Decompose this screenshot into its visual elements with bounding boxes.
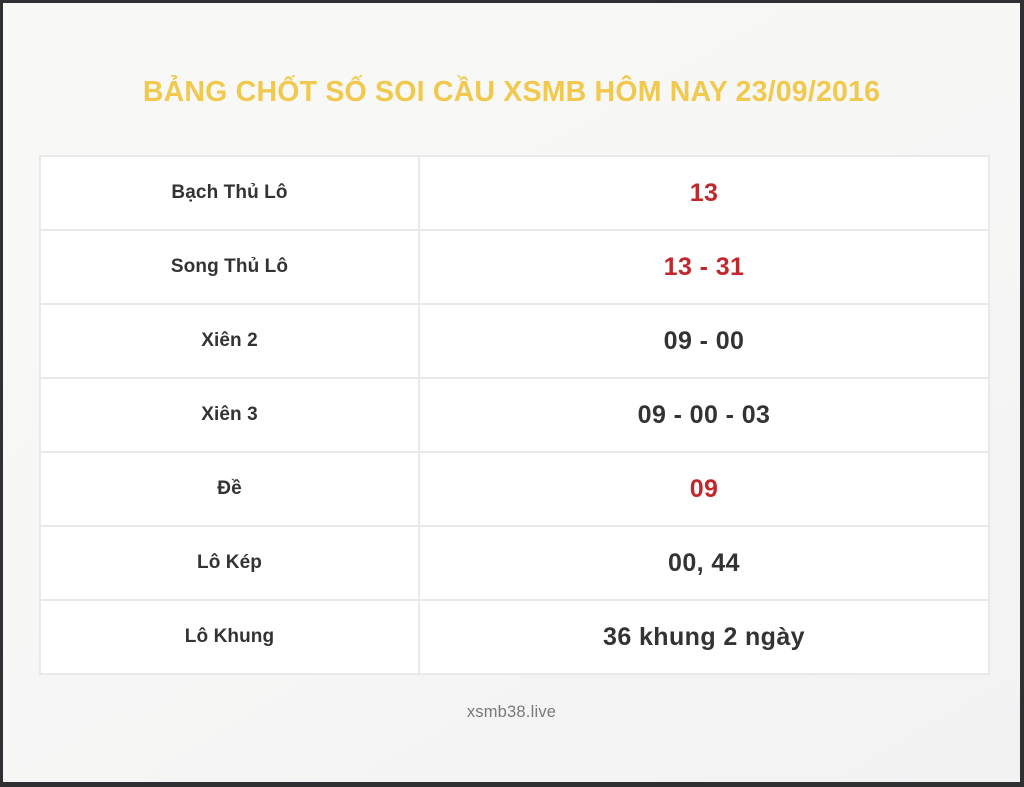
row-value-cell: 09 - 00 <box>419 304 989 378</box>
soi-cau-result-table: Bạch Thủ Lô13Song Thủ Lô13 - 31Xiên 209 … <box>39 155 990 675</box>
row-label-cell: Song Thủ Lô <box>40 230 419 304</box>
row-value: 09 - 00 <box>664 327 745 355</box>
row-label-cell: Đề <box>40 452 419 526</box>
row-label: Xiên 2 <box>201 330 258 351</box>
row-label: Đề <box>217 478 242 499</box>
row-label-cell: Lô Kép <box>40 526 419 600</box>
table-row: Xiên 309 - 00 - 03 <box>40 378 989 452</box>
row-value: 09 - 00 - 03 <box>638 401 771 429</box>
row-label-cell: Lô Khung <box>40 600 419 674</box>
footer-area: xsmb38.live <box>3 703 1020 722</box>
row-label: Bạch Thủ Lô <box>171 182 287 203</box>
row-value-cell: 09 <box>419 452 989 526</box>
site-credit-label: xsmb38.live <box>467 703 556 721</box>
table-row: Lô Khung36 khung 2 ngày <box>40 600 989 674</box>
row-value: 00, 44 <box>668 549 740 577</box>
poster-frame: BẢNG CHỐT SỐ SOI CẦU XSMB HÔM NAY 23/09/… <box>0 0 1024 787</box>
row-value: 13 <box>690 179 719 207</box>
row-label-cell: Bạch Thủ Lô <box>40 156 419 230</box>
row-label: Lô Khung <box>185 626 274 647</box>
table-row: Lô Kép00, 44 <box>40 526 989 600</box>
row-value: 13 - 31 <box>664 253 745 281</box>
table-row: Bạch Thủ Lô13 <box>40 156 989 230</box>
table-row: Đề09 <box>40 452 989 526</box>
row-value-cell: 13 - 31 <box>419 230 989 304</box>
row-value-cell: 36 khung 2 ngày <box>419 600 989 674</box>
row-value-cell: 00, 44 <box>419 526 989 600</box>
row-label: Xiên 3 <box>201 404 258 425</box>
row-value: 36 khung 2 ngày <box>603 623 805 651</box>
row-label-cell: Xiên 2 <box>40 304 419 378</box>
title-area: BẢNG CHỐT SỐ SOI CẦU XSMB HÔM NAY 23/09/… <box>3 3 1020 108</box>
row-value-cell: 09 - 00 - 03 <box>419 378 989 452</box>
table-row: Xiên 209 - 00 <box>40 304 989 378</box>
page-title: BẢNG CHỐT SỐ SOI CẦU XSMB HÔM NAY 23/09/… <box>3 77 1020 108</box>
table-body: Bạch Thủ Lô13Song Thủ Lô13 - 31Xiên 209 … <box>40 156 989 674</box>
row-value: 09 <box>690 475 719 503</box>
table-row: Song Thủ Lô13 - 31 <box>40 230 989 304</box>
row-label-cell: Xiên 3 <box>40 378 419 452</box>
row-label: Song Thủ Lô <box>171 256 288 277</box>
row-label: Lô Kép <box>197 552 262 573</box>
row-value-cell: 13 <box>419 156 989 230</box>
